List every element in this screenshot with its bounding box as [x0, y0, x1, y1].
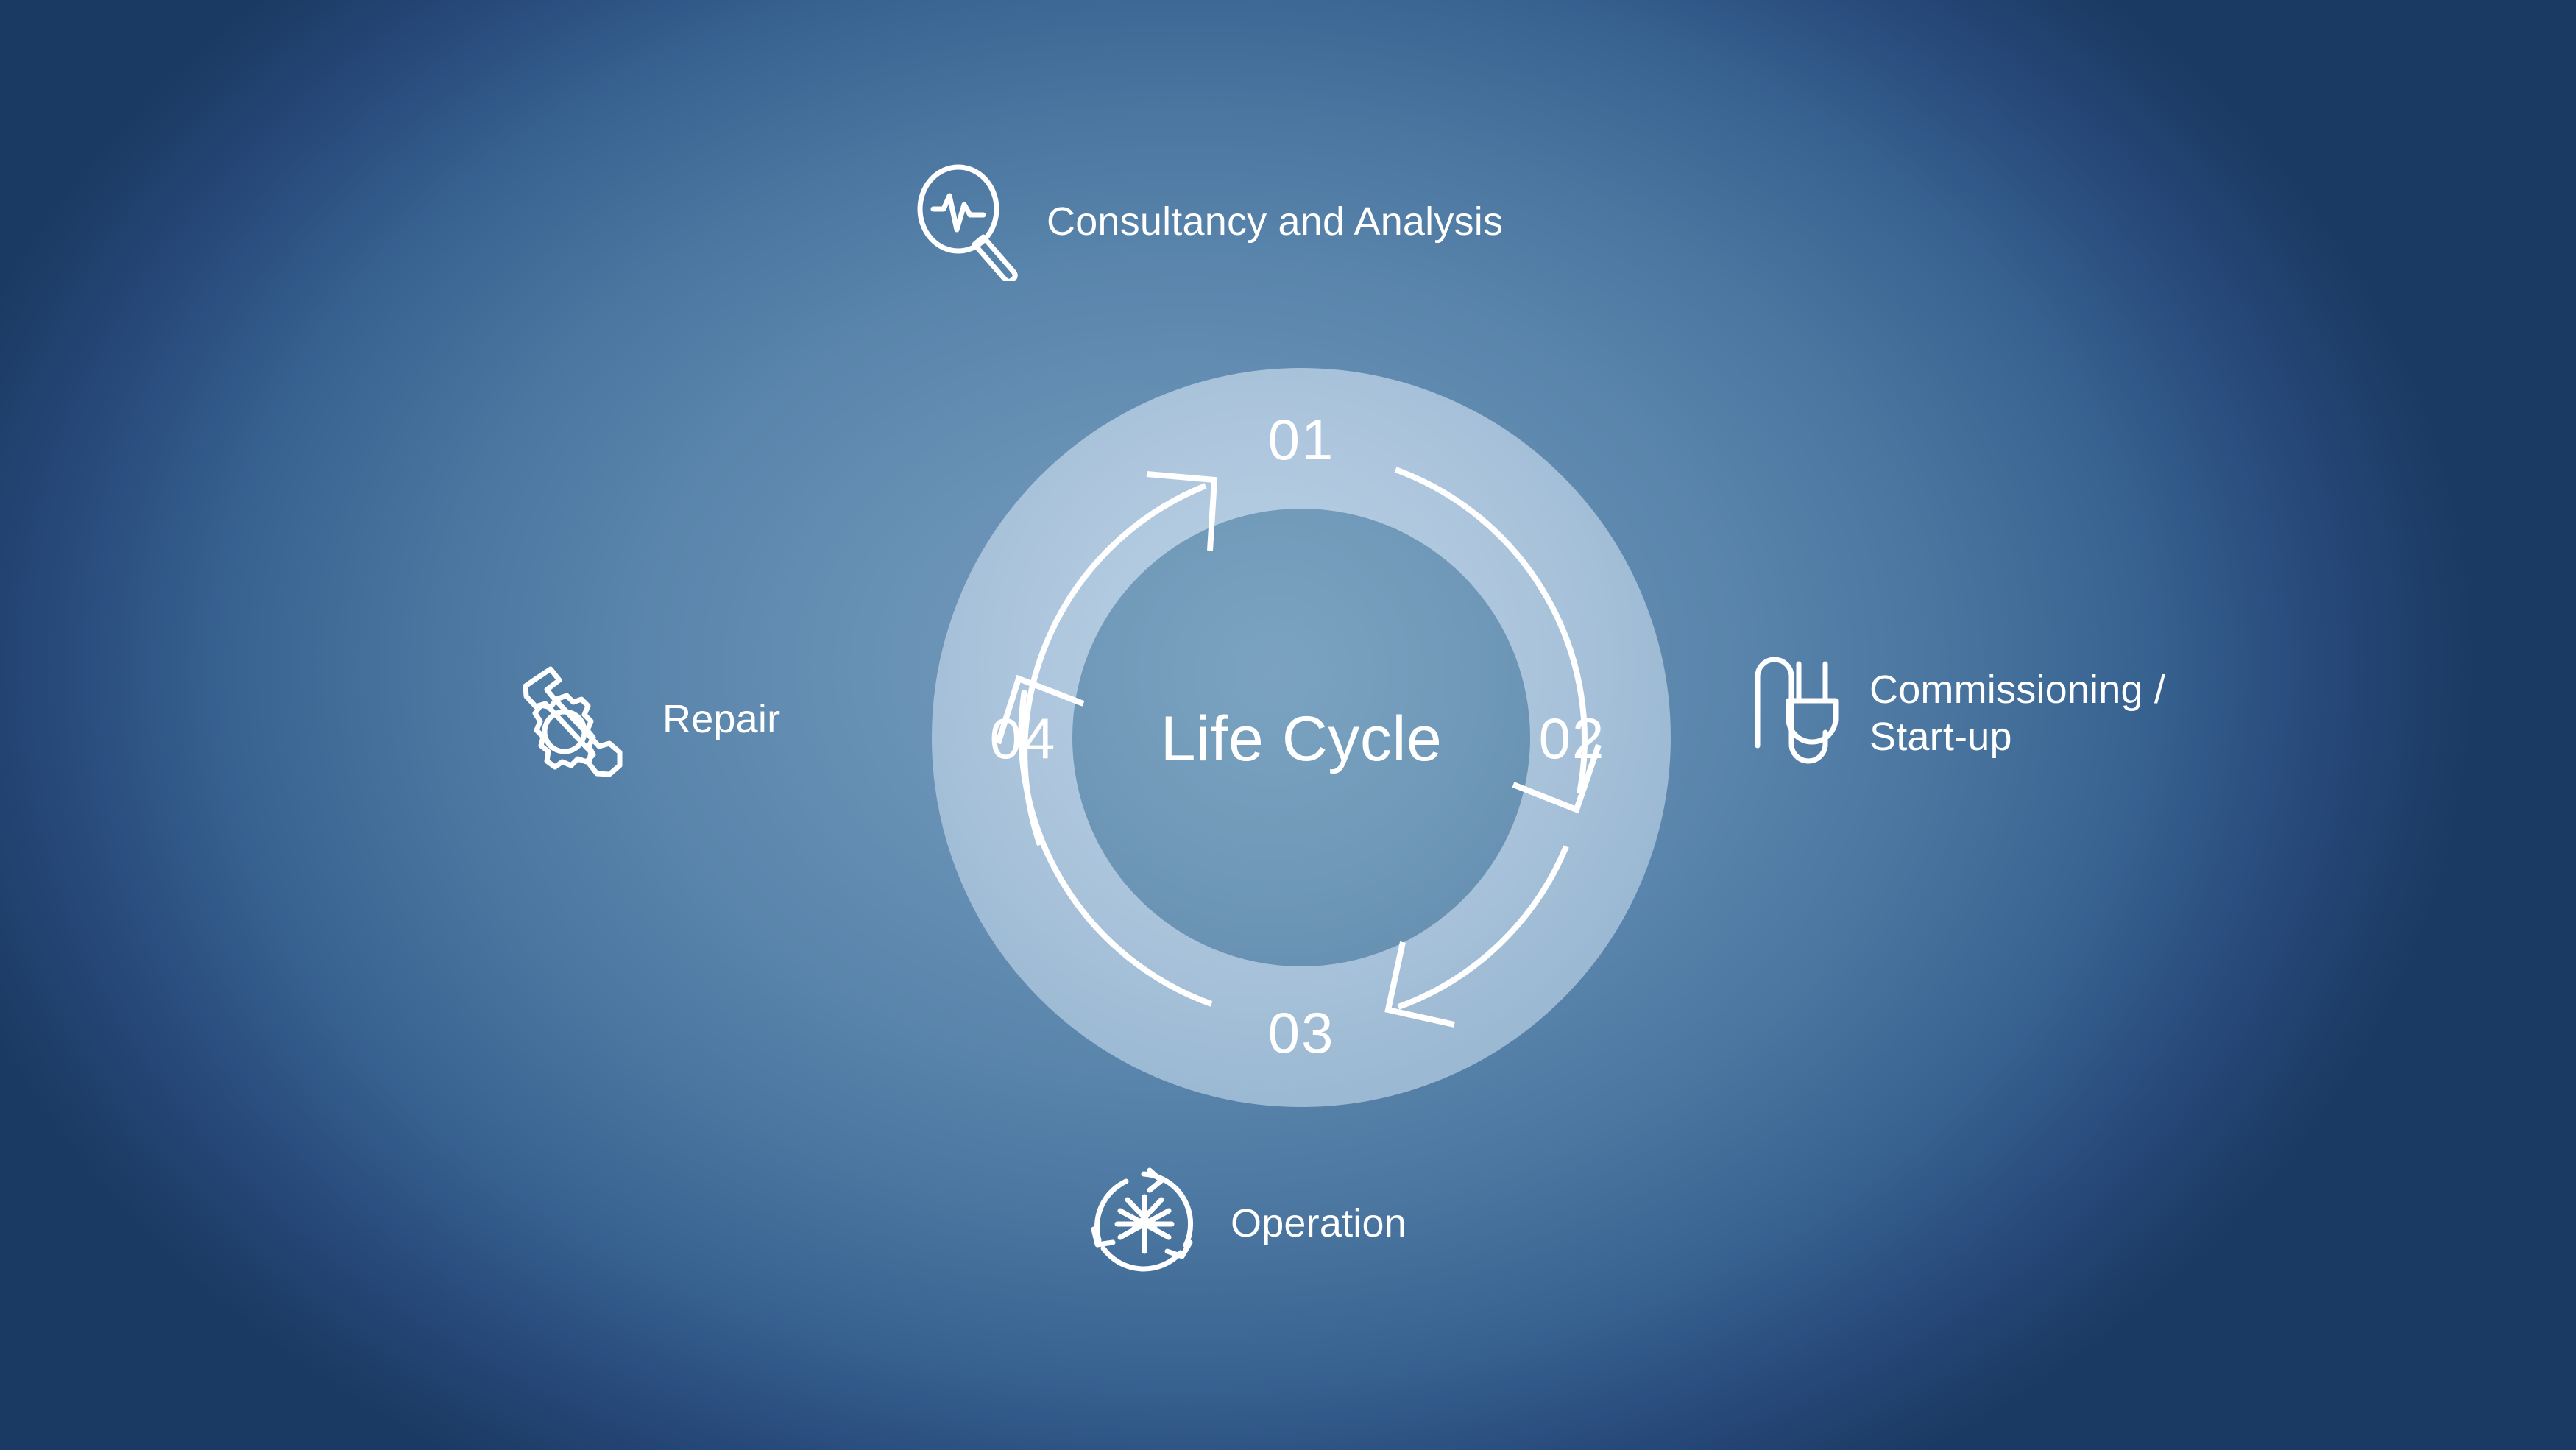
step-label-operation: Operation — [1231, 1200, 1406, 1248]
magnifier-pulse-icon — [913, 163, 1023, 281]
page-title: Life Cycle — [1080, 703, 1522, 776]
step-number-01: 01 — [1235, 406, 1367, 473]
step-consultancy-and-analysis: Consultancy and Analysis — [913, 163, 1503, 281]
step-label-consultancy: Consultancy and Analysis — [1047, 199, 1503, 246]
step-number-02: 02 — [1506, 705, 1638, 772]
step-operation: Operation — [1082, 1161, 1406, 1287]
step-number-03: 03 — [1235, 1000, 1367, 1067]
step-commissioning-start-up: Commissioning / Start-up — [1752, 648, 2165, 780]
step-repair: Repair — [508, 654, 780, 786]
life-cycle-diagram: Life Cycle 01 02 03 04 Consultancy and A… — [0, 0, 2576, 1450]
power-plug-icon — [1752, 648, 1847, 780]
step-number-04: 04 — [957, 705, 1089, 772]
cycle-gear-icon — [1082, 1161, 1207, 1287]
wrench-gear-icon — [508, 654, 640, 786]
step-label-commissioning: Commissioning / Start-up — [1869, 667, 2165, 760]
step-label-repair: Repair — [662, 696, 780, 743]
